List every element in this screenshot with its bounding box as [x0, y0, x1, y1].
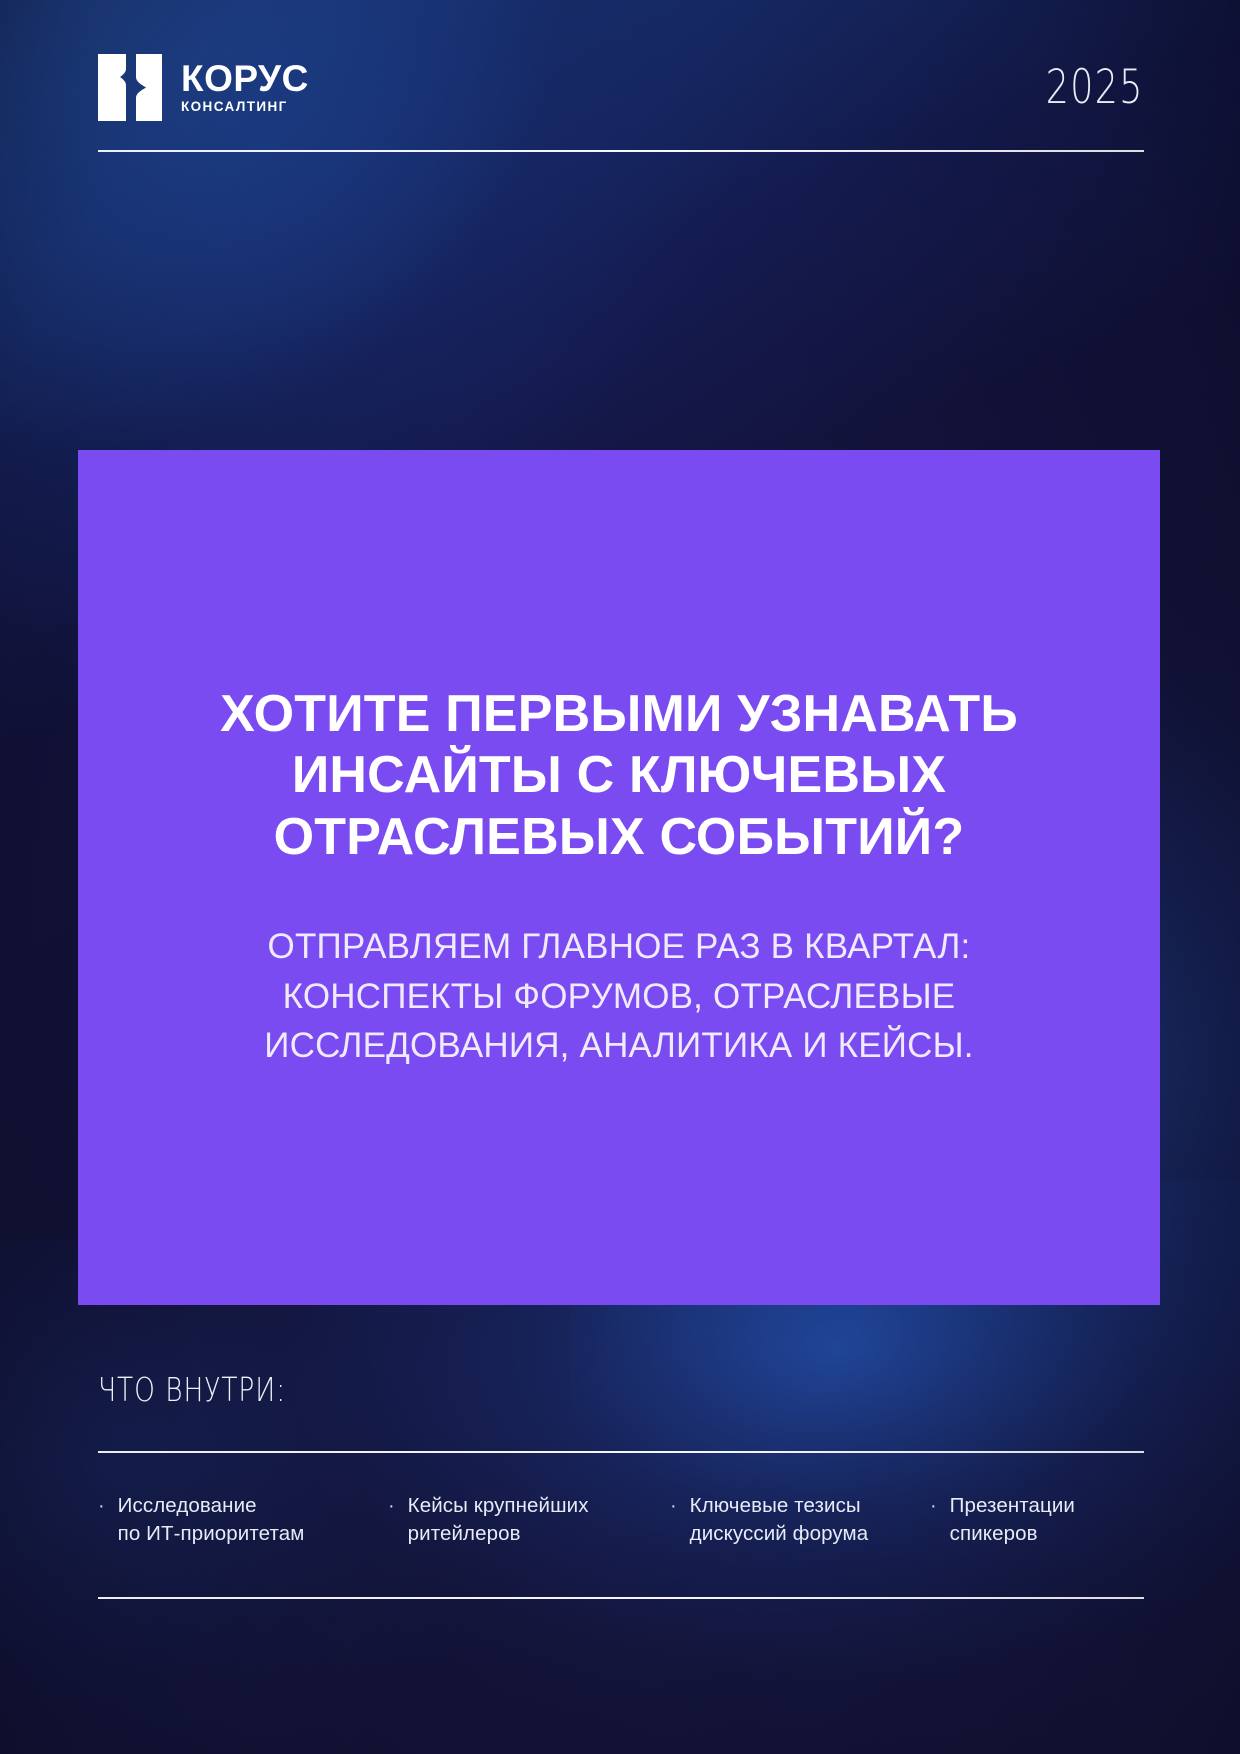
inside-bottom-divider [98, 1597, 1144, 1599]
whats-inside-list: · Исследование по ИТ-приоритетам · Кейсы… [98, 1492, 1144, 1549]
korus-k-mark-icon [98, 54, 162, 121]
list-item: · Ключевые тезисы дискуссий форума [670, 1492, 930, 1549]
inside-top-divider [98, 1451, 1144, 1453]
brand-name: КОРУС [181, 60, 309, 97]
bullet-icon: · [670, 1492, 677, 1520]
hero-block: ХОТИТЕ ПЕРВЫМИ УЗНАВАТЬ ИНСАЙТЫ С КЛЮЧЕВ… [78, 450, 1160, 1305]
whats-inside-label: ЧТО ВНУТРИ: [98, 1373, 286, 1406]
list-item: · Исследование по ИТ-приоритетам [98, 1492, 388, 1549]
year-label: 2025 [1046, 64, 1144, 111]
hero-subtitle: ОТПРАВЛЯЕМ ГЛАВНОЕ РАЗ В КВАРТАЛ: КОНСПЕ… [199, 922, 1039, 1071]
list-item-label: Ключевые тезисы дискуссий форума [690, 1492, 869, 1549]
brand-text: КОРУС КОНСАЛТИНГ [181, 60, 309, 114]
list-item: · Презентации спикеров [930, 1492, 1144, 1549]
list-item: · Кейсы крупнейших ритейлеров [388, 1492, 670, 1549]
page-header: КОРУС КОНСАЛТИНГ 2025 [98, 48, 1144, 126]
brand-subtitle: КОНСАЛТИНГ [181, 100, 309, 114]
list-item-label: Исследование по ИТ-приоритетам [118, 1492, 305, 1549]
hero-title: ХОТИТЕ ПЕРВЫМИ УЗНАВАТЬ ИНСАЙТЫ С КЛЮЧЕВ… [179, 684, 1059, 868]
list-item-label: Кейсы крупнейших ритейлеров [408, 1492, 589, 1549]
list-item-label: Презентации спикеров [950, 1492, 1075, 1549]
poster-page: КОРУС КОНСАЛТИНГ 2025 ХОТИТЕ ПЕРВЫМИ УЗН… [0, 0, 1240, 1754]
brand-logo: КОРУС КОНСАЛТИНГ [98, 54, 309, 121]
header-divider [98, 150, 1144, 152]
bullet-icon: · [98, 1492, 105, 1520]
bullet-icon: · [388, 1492, 395, 1520]
bullet-icon: · [930, 1492, 937, 1520]
